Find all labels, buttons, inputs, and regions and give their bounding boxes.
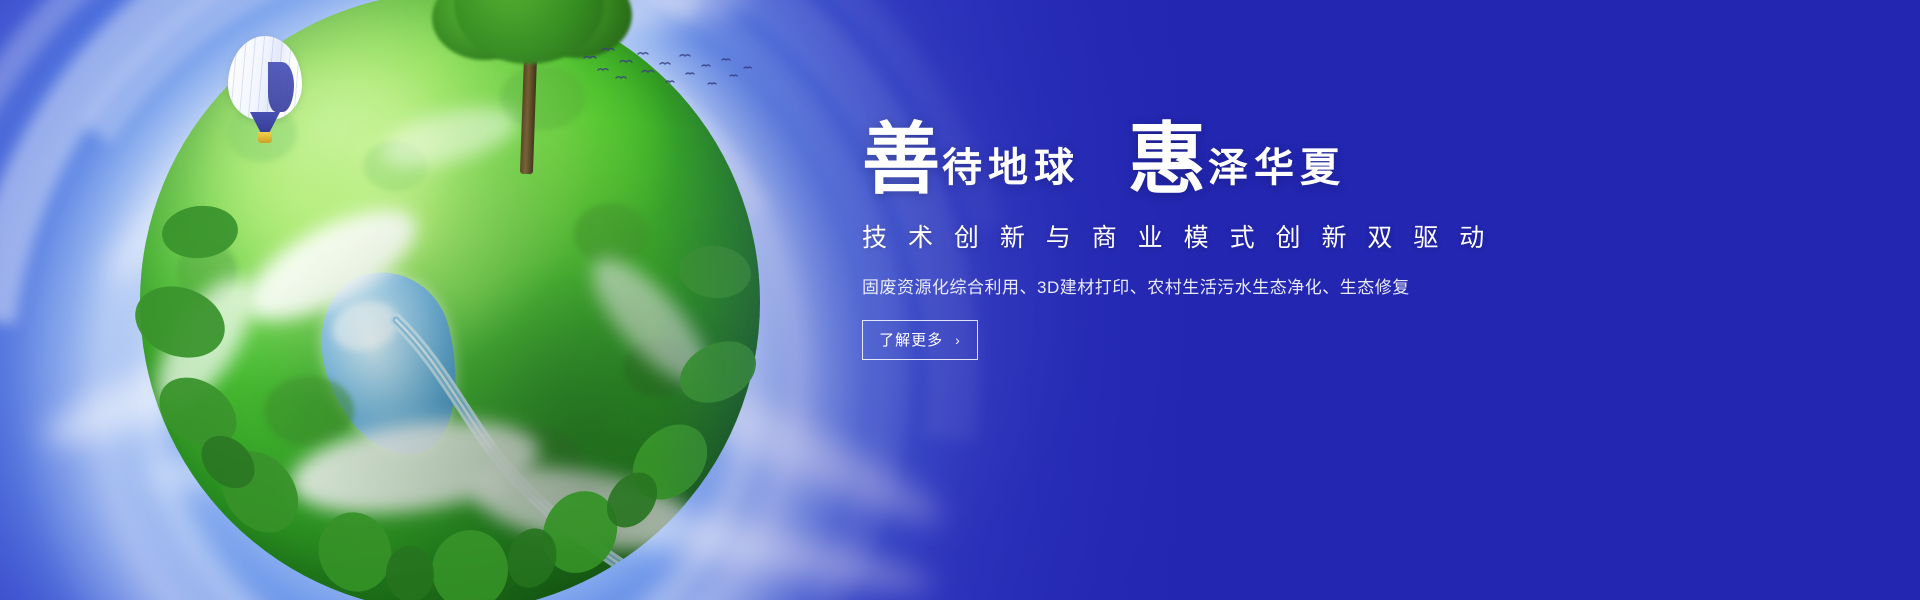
balloon-basket [258,132,272,143]
learn-more-button[interactable]: 了解更多 › [862,320,978,360]
learn-more-label: 了解更多 [879,329,943,350]
page-title: 善 待地球 惠 泽华夏 [862,124,1502,196]
headline-text-daidiqiu: 待地球 [942,148,1080,196]
balloon-envelope [228,36,302,120]
headline-char-shan: 善 [862,124,940,196]
balloon-skirt [250,112,280,134]
headline-char-hui: 惠 [1128,124,1206,196]
bird-flock [580,42,760,102]
hot-air-balloon [228,36,302,144]
tree-trunk [520,54,537,174]
chevron-right-icon: › [955,332,961,348]
hero-banner: 善 待地球 惠 泽华夏 技 术 创 新 与 商 业 模 式 创 新 双 驱 动 … [0,0,1920,600]
headline-text-zehuaxia: 泽华夏 [1208,148,1346,196]
hero-subtitle: 技 术 创 新 与 商 业 模 式 创 新 双 驱 动 [862,218,1502,254]
hero-content: 善 待地球 惠 泽华夏 技 术 创 新 与 商 业 模 式 创 新 双 驱 动 … [862,124,1502,360]
hero-description: 固废资源化综合利用、3D建材打印、农村生活污水生态净化、生态修复 [862,273,1502,298]
